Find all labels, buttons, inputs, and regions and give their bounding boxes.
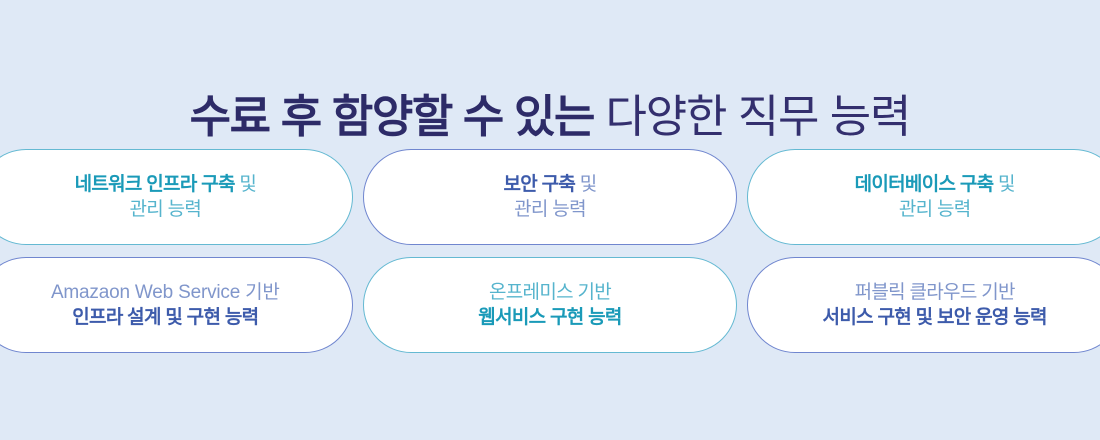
card-line-secondary: 관리 능력 <box>514 197 586 222</box>
card-line-secondary: 관리 능력 <box>899 197 971 222</box>
card-line-primary: 온프레미스 기반 <box>489 280 611 305</box>
card-aws-infrastructure[interactable]: Amazaon Web Service 기반 인프라 설계 및 구현 능력 <box>0 257 353 353</box>
card-network-infrastructure[interactable]: 네트워크 인프라 구축 및 관리 능력 <box>0 149 353 245</box>
card-text-regular: 및 <box>993 174 1014 195</box>
card-onpremise-webservice[interactable]: 온프레미스 기반 웹서비스 구현 능력 <box>363 257 738 353</box>
card-line-primary: Amazaon Web Service 기반 <box>51 280 280 305</box>
card-line-primary: 네트워크 인프라 구축 및 <box>75 172 257 197</box>
card-line-secondary: 관리 능력 <box>129 197 201 222</box>
card-line-secondary: 서비스 구현 및 보안 운영 능력 <box>823 305 1047 330</box>
card-text-regular: 및 <box>575 174 596 195</box>
infographic-root: 수료 후 함양할 수 있는 다양한 직무 능력 네트워크 인프라 구축 및 관리… <box>0 0 1100 440</box>
capability-card-grid: 네트워크 인프라 구축 및 관리 능력 보안 구축 및 관리 능력 데이터베이스… <box>0 149 1100 365</box>
card-line-secondary: 인프라 설계 및 구현 능력 <box>72 305 258 330</box>
capability-row-1: 네트워크 인프라 구축 및 관리 능력 보안 구축 및 관리 능력 데이터베이스… <box>0 149 1100 245</box>
page-title-emphasis: 수료 후 함양할 수 있는 <box>190 91 594 142</box>
card-public-cloud-service[interactable]: 퍼블릭 클라우드 기반 서비스 구현 및 보안 운영 능력 <box>747 257 1100 353</box>
card-text-strong: 데이터베이스 구축 <box>855 174 994 195</box>
card-line-secondary: 웹서비스 구현 능력 <box>478 305 621 330</box>
capability-row-2: Amazaon Web Service 기반 인프라 설계 및 구현 능력 온프… <box>0 257 1100 353</box>
card-text-regular: 및 <box>235 174 256 195</box>
page-title-remainder: 다양한 직무 능력 <box>594 91 910 142</box>
card-text-strong: 보안 구축 <box>503 174 575 195</box>
page-title: 수료 후 함양할 수 있는 다양한 직무 능력 <box>0 92 1100 142</box>
card-database[interactable]: 데이터베이스 구축 및 관리 능력 <box>747 149 1100 245</box>
card-line-primary: 데이터베이스 구축 및 <box>855 172 1015 197</box>
card-security[interactable]: 보안 구축 및 관리 능력 <box>363 149 738 245</box>
card-text-strong: 네트워크 인프라 구축 <box>75 174 235 195</box>
card-line-primary: 보안 구축 및 <box>503 172 596 197</box>
card-line-primary: 퍼블릭 클라우드 기반 <box>855 280 1015 305</box>
